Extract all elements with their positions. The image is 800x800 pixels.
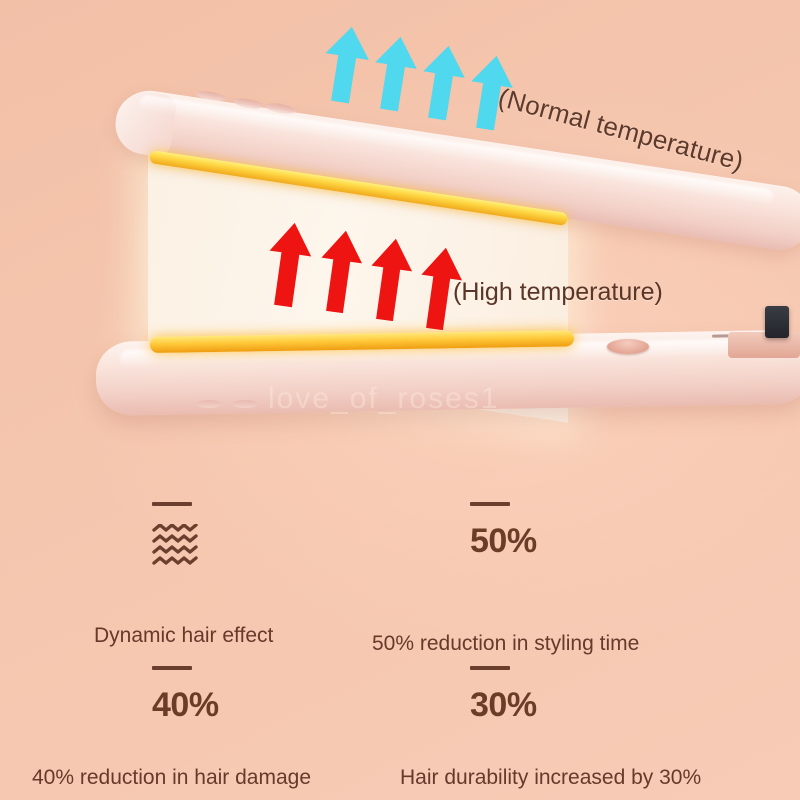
wave-lines-icon <box>152 524 198 571</box>
feature-label: Dynamic hair effect <box>94 624 273 648</box>
feature-hair-damage: 40% 40% reduction in hair damage <box>152 666 219 738</box>
high-temperature-label: (High temperature) <box>453 278 663 307</box>
power-button[interactable] <box>607 339 649 354</box>
normal-temperature-arrow-icon <box>318 23 373 105</box>
feature-label: 40% reduction in hair damage <box>32 766 311 790</box>
vent-hole-icon <box>232 400 258 408</box>
feature-label: Hair durability increased by 30% <box>400 766 701 790</box>
feature-divider-dash <box>152 666 192 670</box>
features-grid: Dynamic hair effect 50% 50% reduction in… <box>0 470 800 800</box>
feature-divider-dash <box>470 666 510 670</box>
feature-styling-time: 50% 50% reduction in styling time <box>470 502 537 574</box>
vent-hole-icon <box>196 400 222 408</box>
temperature-switch-knob[interactable] <box>765 306 789 338</box>
feature-hair-durability: 30% Hair durability increased by 30% <box>470 666 537 738</box>
feature-divider-dash <box>470 502 510 506</box>
feature-dynamic-hair-effect: Dynamic hair effect <box>152 502 198 585</box>
temperature-switch-base <box>728 332 800 358</box>
product-photo: (Normal temperature) (High temperature) … <box>0 0 800 470</box>
feature-divider-dash <box>152 502 192 506</box>
watermark: love_of_roses1 <box>268 382 499 416</box>
normal-temperature-arrow-icon <box>368 34 421 114</box>
product-infographic: (Normal temperature) (High temperature) … <box>0 0 800 800</box>
feature-number: 30% <box>470 688 537 722</box>
feature-number: 40% <box>152 688 219 722</box>
feature-label: 50% reduction in styling time <box>372 632 639 656</box>
feature-number: 50% <box>470 524 537 558</box>
normal-temperature-arrow-icon <box>416 43 469 123</box>
